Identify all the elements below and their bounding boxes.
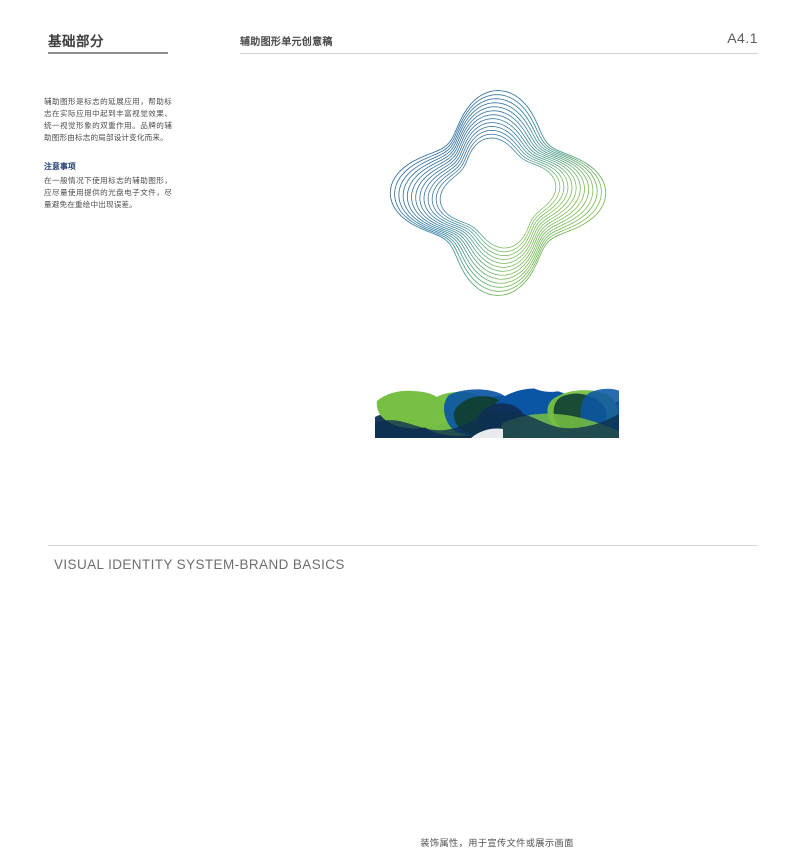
spiral-ring xyxy=(395,95,602,292)
header-divider-rule xyxy=(240,53,758,54)
footer-divider-rule xyxy=(48,545,758,546)
decorative-color-banner-icon xyxy=(375,383,619,438)
figure-concentric-star-spiral: 检测属性，用于正式文件或专业内容 xyxy=(390,95,610,295)
spiral-ring xyxy=(424,123,572,264)
page-header: 基础部分 辅助图形单元创意稿 A4.1 xyxy=(0,30,800,58)
spiral-ring xyxy=(440,138,556,248)
header-subject-title: 辅助图形单元创意稿 xyxy=(240,33,333,48)
sidebar-note-body: 在一般情况下使用标志的辅助图形，应尽量使用提供的光盘电子文件，尽量避免在重绘中出… xyxy=(44,175,172,211)
spiral-ring xyxy=(403,103,593,283)
concentric-star-spiral-icon xyxy=(390,95,610,295)
spiral-ring xyxy=(416,115,581,272)
footer-system-label: VISUAL IDENTITY SYSTEM-BRAND BASICS xyxy=(54,557,345,572)
sidebar-note-title: 注意事项 xyxy=(44,160,172,173)
sidebar-intro-paragraph: 辅助图形是标志的延展应用，帮助标志在实际应用中起到丰富视觉效果、统一视觉形象的双… xyxy=(44,96,172,144)
figure-decorative-banner: 装饰属性，用于宣传文件或展示画面 xyxy=(375,383,619,438)
spiral-ring xyxy=(428,126,568,259)
header-section-title: 基础部分 xyxy=(48,30,104,50)
spiral-ring xyxy=(390,91,605,296)
figure-2-caption: 装饰属性，用于宣传文件或展示画面 xyxy=(375,835,619,849)
spiral-ring xyxy=(420,119,576,268)
brand-guideline-page: 基础部分 辅助图形单元创意稿 A4.1 辅助图形是标志的延展应用，帮助标志在实际… xyxy=(0,0,800,600)
header-page-number: A4.1 xyxy=(727,30,758,46)
spiral-ring xyxy=(407,107,588,279)
header-title-underline xyxy=(48,52,168,54)
sidebar-description-column: 辅助图形是标志的延展应用，帮助标志在实际应用中起到丰富视觉效果、统一视觉形象的双… xyxy=(44,96,172,211)
